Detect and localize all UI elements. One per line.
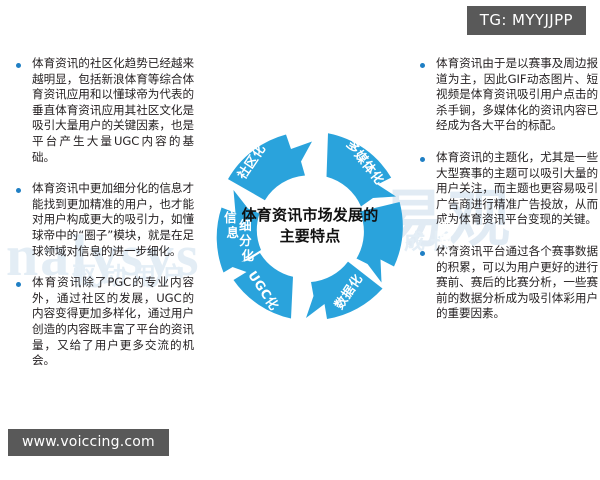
segment-community[interactable]: 社区化 [228, 135, 312, 201]
page-title-line-2: 主要特点 [225, 226, 395, 247]
bullet-dot-icon [16, 188, 21, 193]
bullet-dot-icon [16, 282, 21, 287]
page-title: 体育资讯市场发展的 主要特点 [225, 205, 395, 247]
slide-canvas: nalysys 易观 驱动用户 成长 TG: MYYJJPP www.voicc… [0, 0, 600, 480]
bullet-text: 体育资讯的主题化，尤其是一些大型赛事的主题可以吸引大量的用户关注，而主题也更容易… [436, 150, 598, 228]
segment-data[interactable]: 数据化 [306, 262, 383, 319]
bullet-dot-icon [420, 63, 425, 68]
page-title-line-1: 体育资讯市场发展的 [225, 205, 395, 226]
segment-multimedia[interactable]: 多媒体化 [327, 133, 397, 206]
bullet-dot-icon [16, 63, 21, 68]
bullet-text: 体育资讯由于是以赛事及周边报道为主，因此GIF动态图片、短视频是体育资讯吸引用户… [436, 56, 598, 134]
tg-handle-badge: TG: MYYJJPP [467, 6, 586, 35]
website-url-badge: www.voiccing.com [8, 429, 169, 456]
bullet-text: 体育资讯平台通过各个赛事数据的积累，可以为用户更好的进行赛前、赛后的比赛分析，一… [436, 244, 598, 322]
cycle-diagram: 社区化 多媒体化 主 题 化 [160, 108, 460, 344]
segment-label: 主 题 化 [439, 218, 457, 261]
